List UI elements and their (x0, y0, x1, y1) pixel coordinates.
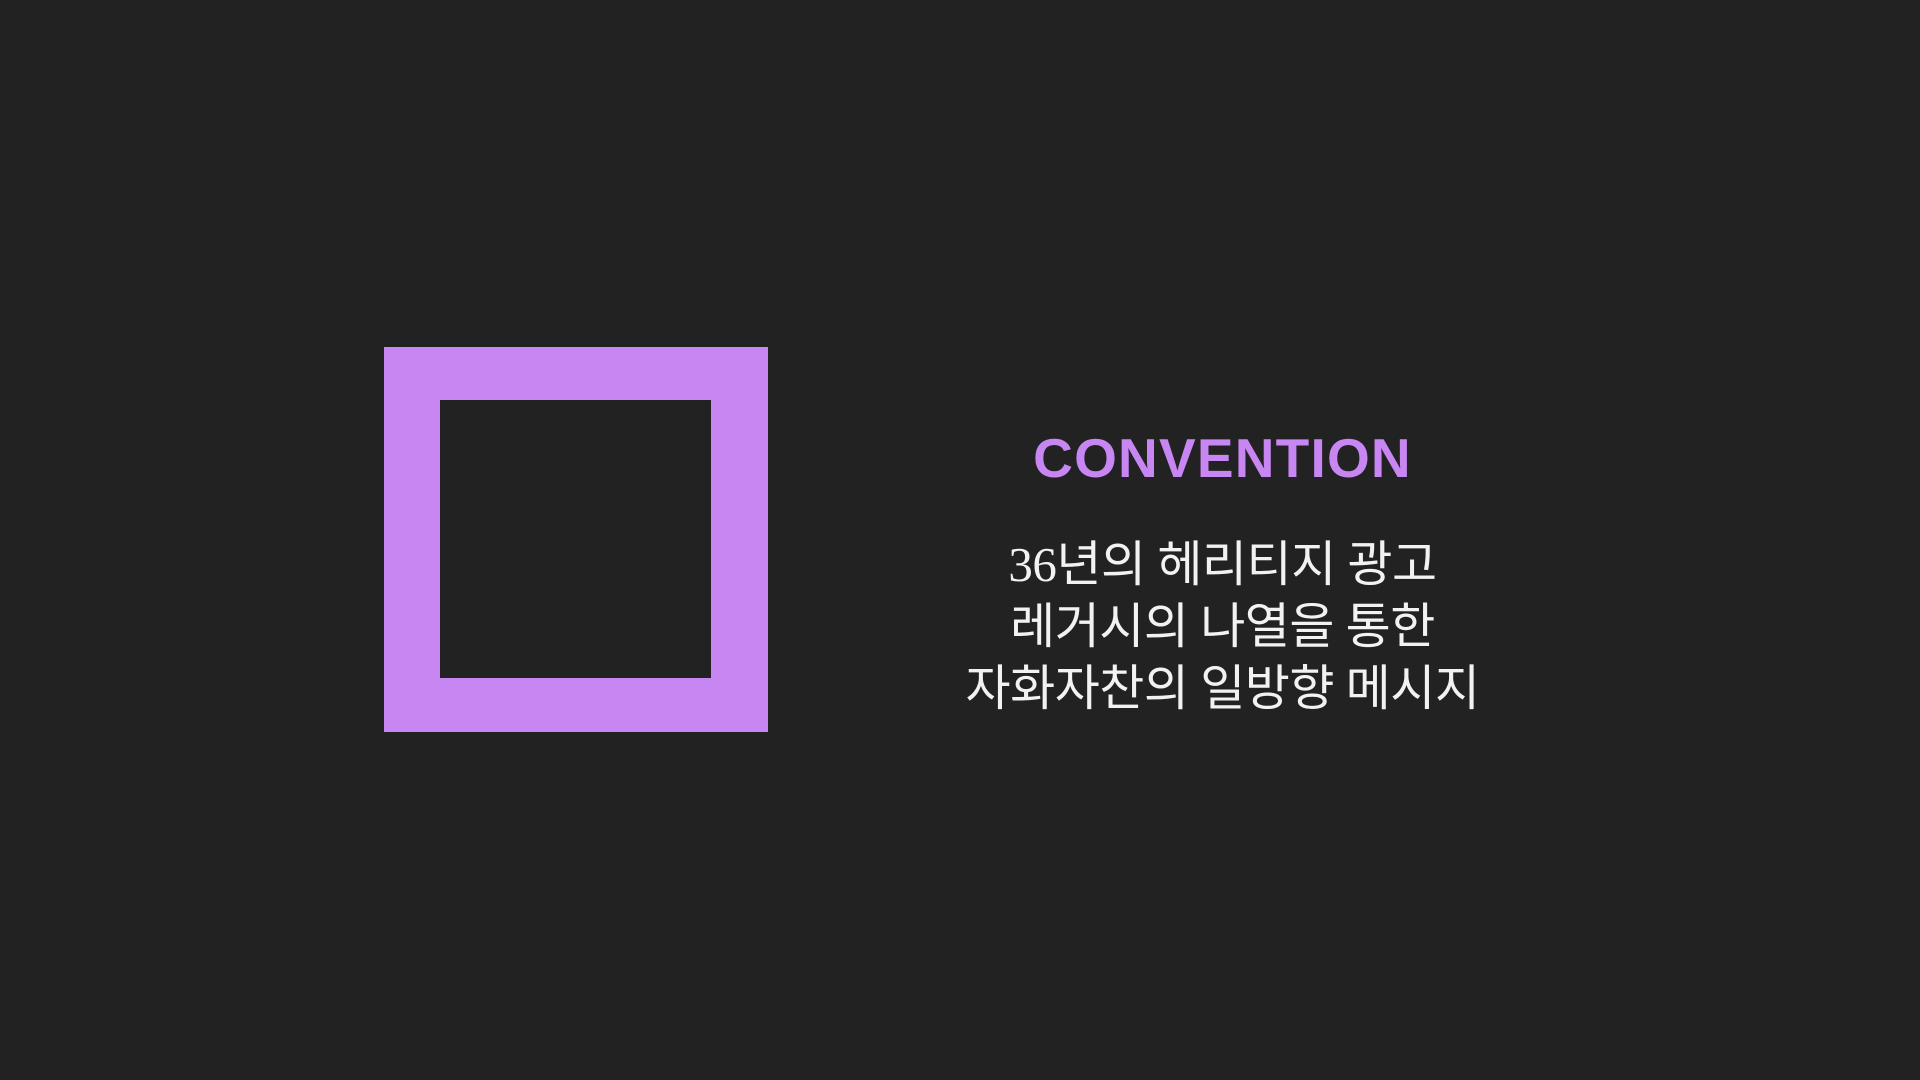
square-outline-interior (440, 400, 711, 678)
body-copy-line-1: 36년의 헤리티지 광고 (900, 534, 1545, 596)
purple-square-outline-graphic (384, 347, 768, 732)
body-copy-line-2: 레거시의 나열을 통한 (900, 596, 1545, 658)
slide-body-copy: 36년의 헤리티지 광고 레거시의 나열을 통한 자화자찬의 일방향 메시지 (900, 534, 1545, 720)
body-copy-line-3: 자화자찬의 일방향 메시지 (900, 658, 1545, 720)
slide-text-block: CONVENTION 36년의 헤리티지 광고 레거시의 나열을 통한 자화자찬… (900, 400, 1545, 720)
slide-heading: CONVENTION (900, 400, 1545, 486)
slide-canvas: CONVENTION 36년의 헤리티지 광고 레거시의 나열을 통한 자화자찬… (0, 0, 1920, 1080)
